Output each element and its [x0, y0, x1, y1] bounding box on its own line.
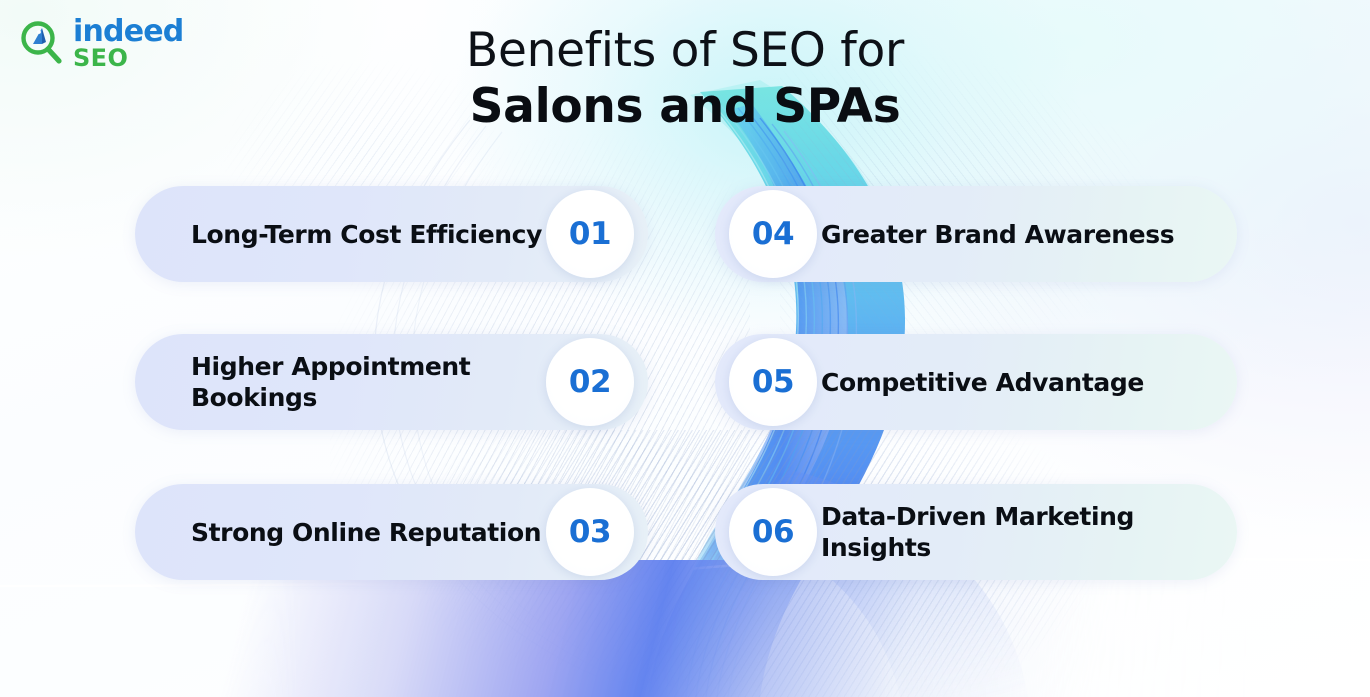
benefit-label: Long-Term Cost Efficiency	[191, 219, 542, 250]
benefit-number: 04	[752, 216, 794, 252]
benefit-number: 03	[569, 514, 611, 550]
benefit-number: 02	[569, 364, 611, 400]
benefit-number-badge: 03	[546, 488, 634, 576]
magnifier-seo-icon	[18, 19, 66, 67]
benefit-item-01[interactable]: Long-Term Cost Efficiency 01	[135, 186, 648, 282]
page-title: Benefits of SEO for Salons and SPAs	[0, 24, 1370, 133]
title-line-1: Benefits of SEO for	[0, 24, 1370, 77]
benefit-label: Data-Driven Marketing Insights	[821, 501, 1181, 563]
benefit-item-03[interactable]: Strong Online Reputation 03	[135, 484, 648, 580]
benefit-label: Competitive Advantage	[821, 367, 1181, 398]
brand-wordmark: indeed SEO	[73, 17, 183, 70]
benefit-number-badge: 06	[729, 488, 817, 576]
benefit-number: 01	[569, 216, 611, 252]
benefit-item-06[interactable]: Data-Driven Marketing Insights 06	[715, 484, 1237, 580]
title-line-2: Salons and SPAs	[0, 80, 1370, 133]
brand-logo[interactable]: indeed SEO	[18, 16, 183, 70]
benefit-number-badge: 04	[729, 190, 817, 278]
brand-name-primary: indeed	[73, 17, 183, 47]
benefit-item-05[interactable]: Competitive Advantage 05	[715, 334, 1237, 430]
benefit-number-badge: 02	[546, 338, 634, 426]
benefit-item-02[interactable]: Higher Appointment Bookings 02	[135, 334, 648, 430]
benefit-label: Strong Online Reputation	[191, 517, 542, 548]
infographic-canvas: indeed SEO Benefits of SEO for Salons an…	[0, 0, 1370, 697]
brand-name-secondary: SEO	[73, 46, 183, 70]
benefit-label: Greater Brand Awareness	[821, 219, 1181, 250]
benefit-label: Higher Appointment Bookings	[191, 351, 542, 413]
benefit-number: 05	[752, 364, 794, 400]
benefit-number: 06	[752, 514, 794, 550]
benefit-item-04[interactable]: Greater Brand Awareness 04	[715, 186, 1237, 282]
benefit-number-badge: 05	[729, 338, 817, 426]
benefit-number-badge: 01	[546, 190, 634, 278]
